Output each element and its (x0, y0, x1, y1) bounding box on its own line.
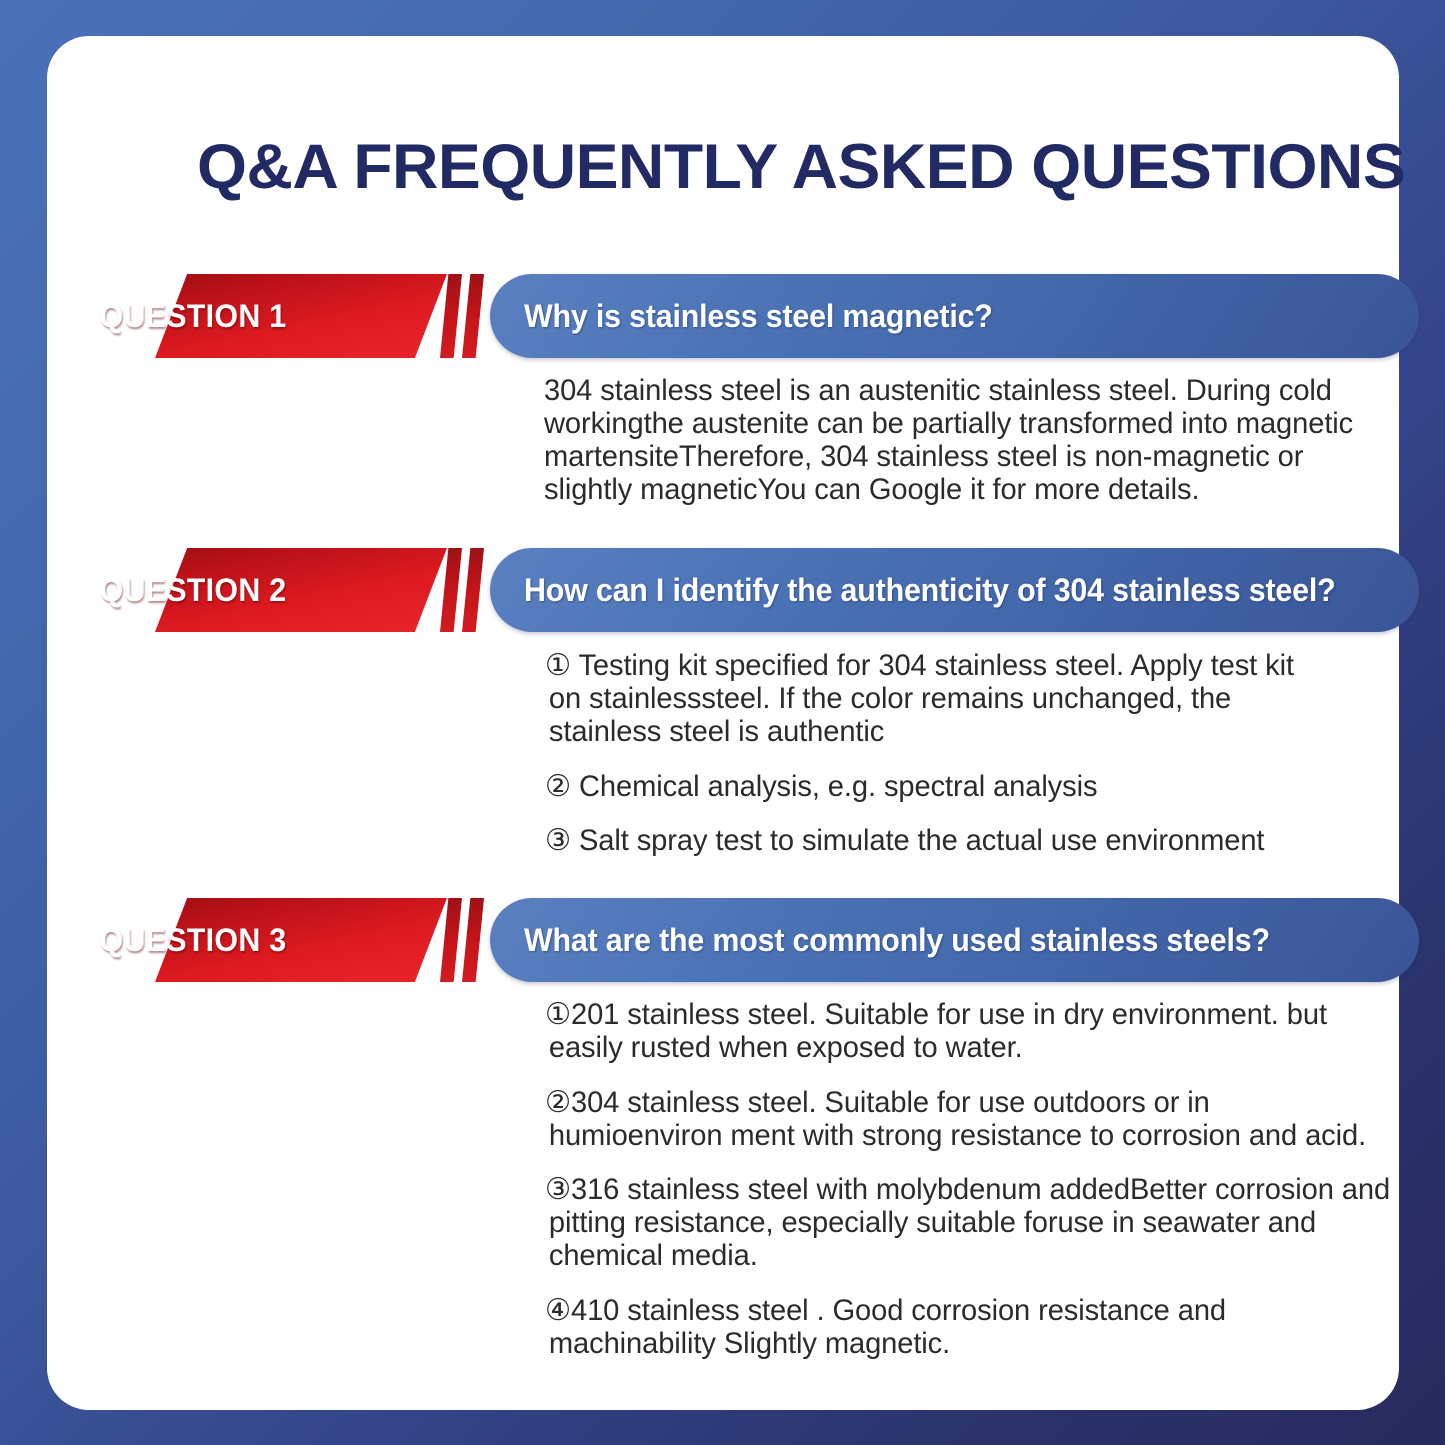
question-text-1: Why is stainless steel magnetic? (524, 298, 993, 335)
answer-block-2: ① Testing kit specified for 304 stainles… (545, 649, 1321, 857)
question-pill-2[interactable]: How can I identify the authenticity of 3… (490, 548, 1419, 632)
question-badge-label-1: QUESTION 1 (54, 274, 331, 358)
slash-decoration-icon-2a (440, 548, 462, 632)
answer-paragraph: 304 stainless steel is an austenitic sta… (544, 374, 1378, 506)
question-badge-label-2: QUESTION 2 (54, 548, 331, 632)
slash-decoration-icon-1a (440, 274, 462, 358)
question-pill-1[interactable]: Why is stainless steel magnetic? (490, 274, 1419, 358)
question-header-3: QUESTION 3 What are the most commonly us… (47, 898, 1399, 982)
slash-decoration-icon-1b (462, 274, 484, 358)
answer-item: ① Testing kit specified for 304 stainles… (545, 649, 1321, 748)
answer-item: ③316 stainless steel with molybdenum add… (545, 1173, 1391, 1272)
answer-item: ④410 stainless steel . Good corrosion re… (545, 1294, 1391, 1360)
answer-item: ②304 stainless steel. Suitable for use o… (545, 1086, 1391, 1152)
answer-item: ② Chemical analysis, e.g. spectral analy… (545, 770, 1321, 803)
question-badge-label-3: QUESTION 3 (54, 898, 331, 982)
answer-block-1: 304 stainless steel is an austenitic sta… (544, 374, 1378, 506)
answer-item: ①201 stainless steel. Suitable for use i… (545, 998, 1391, 1064)
answer-item: ③ Salt spray test to simulate the actual… (545, 824, 1321, 857)
question-header-1: QUESTION 1 Why is stainless steel magnet… (47, 274, 1399, 358)
question-pill-3[interactable]: What are the most commonly used stainles… (490, 898, 1419, 982)
question-text-3: What are the most commonly used stainles… (524, 922, 1270, 959)
faq-card: Q&A FREQUENTLY ASKED QUESTIONS QUESTION … (47, 36, 1399, 1410)
page-title: Q&A FREQUENTLY ASKED QUESTIONS (197, 134, 1401, 200)
slash-decoration-icon-2b (462, 548, 484, 632)
question-header-2: QUESTION 2 How can I identify the authen… (47, 548, 1399, 632)
question-text-2: How can I identify the authenticity of 3… (524, 572, 1335, 609)
slash-decoration-icon-3a (440, 898, 462, 982)
slash-decoration-icon-3b (462, 898, 484, 982)
answer-block-3: ①201 stainless steel. Suitable for use i… (545, 998, 1391, 1360)
